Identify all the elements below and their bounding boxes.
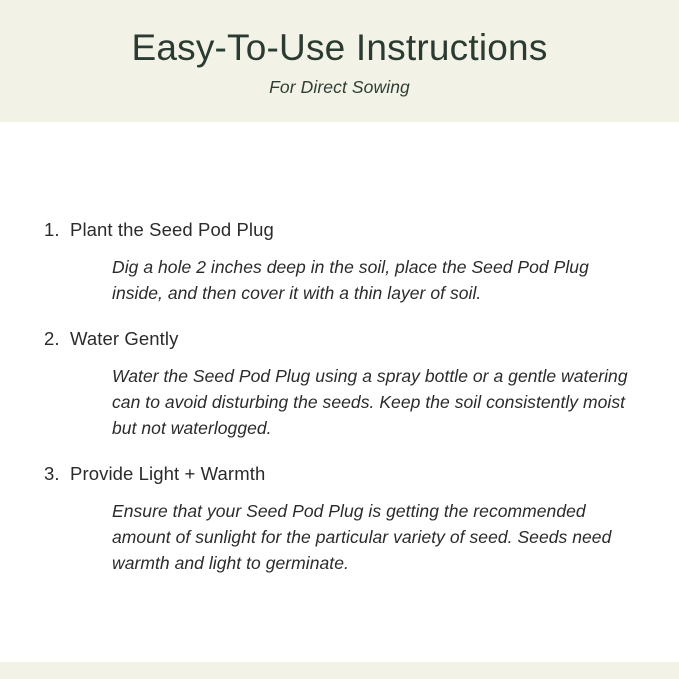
list-item: 1. Plant the Seed Pod Plug Dig a hole 2 … bbox=[44, 218, 649, 307]
step-heading: 3. Provide Light + Warmth bbox=[44, 462, 649, 485]
step-number: 1. bbox=[44, 218, 70, 241]
instructions-content: 1. Plant the Seed Pod Plug Dig a hole 2 … bbox=[0, 122, 679, 662]
list-item: 2. Water Gently Water the Seed Pod Plug … bbox=[44, 327, 649, 442]
step-title: Water Gently bbox=[70, 327, 178, 350]
step-description: Water the Seed Pod Plug using a spray bo… bbox=[112, 364, 640, 442]
step-number: 2. bbox=[44, 327, 70, 350]
step-heading: 1. Plant the Seed Pod Plug bbox=[44, 218, 649, 241]
step-description: Dig a hole 2 inches deep in the soil, pl… bbox=[112, 255, 640, 307]
instructions-page: Easy-To-Use Instructions For Direct Sowi… bbox=[0, 0, 679, 679]
step-heading: 2. Water Gently bbox=[44, 327, 649, 350]
step-number: 3. bbox=[44, 462, 70, 485]
step-title: Provide Light + Warmth bbox=[70, 462, 265, 485]
list-item: 3. Provide Light + Warmth Ensure that yo… bbox=[44, 462, 649, 577]
header-band: Easy-To-Use Instructions For Direct Sowi… bbox=[0, 0, 679, 122]
steps-list: 1. Plant the Seed Pod Plug Dig a hole 2 … bbox=[44, 218, 649, 577]
step-description: Ensure that your Seed Pod Plug is gettin… bbox=[112, 499, 640, 577]
footer-band bbox=[0, 662, 679, 679]
step-title: Plant the Seed Pod Plug bbox=[70, 218, 274, 241]
page-title: Easy-To-Use Instructions bbox=[131, 27, 547, 68]
page-subtitle: For Direct Sowing bbox=[269, 77, 410, 98]
